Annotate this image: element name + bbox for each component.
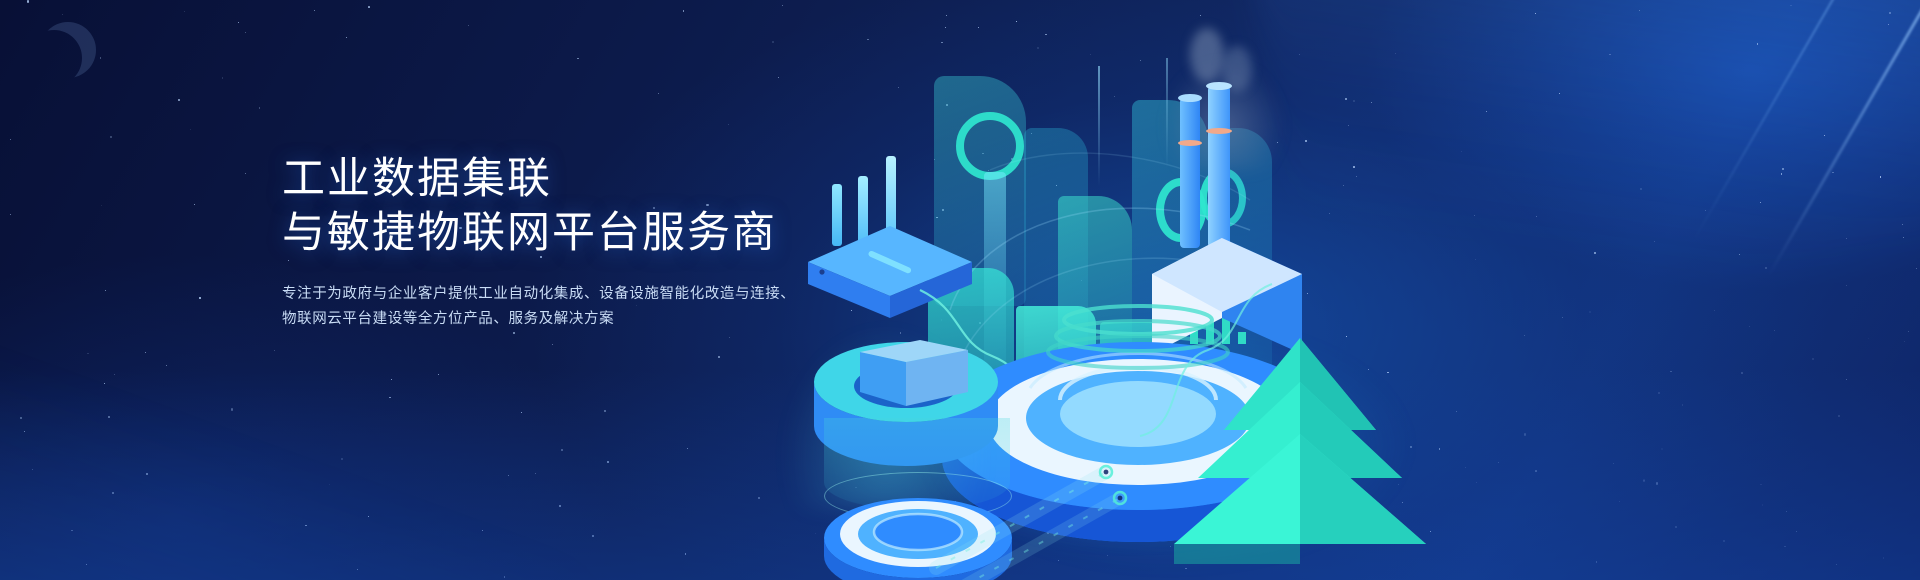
chimney-right-band <box>1206 128 1232 134</box>
hologram-antenna-1 <box>1098 66 1100 186</box>
data-beam <box>910 420 1150 580</box>
subtitle-line-2: 物联网云平台建设等全方位产品、服务及解决方案 <box>282 307 842 332</box>
chimney-right-cap <box>1206 82 1232 90</box>
crescent-moon-icon <box>40 22 96 78</box>
headline-line-1: 工业数据集联 <box>282 152 842 206</box>
headline-line-2: 与敏捷物联网平台服务商 <box>282 206 842 260</box>
chimney-right <box>1208 86 1230 248</box>
smoke-puff-1 <box>1190 28 1224 82</box>
chimney-left <box>1180 98 1200 248</box>
hero-copy: 工业数据集联 与敏捷物联网平台服务商 专注于为政府与企业客户提供工业自动化集成、… <box>282 152 842 332</box>
pyramid-stack <box>1170 338 1430 568</box>
subtitle-line-1: 专注于为政府与企业客户提供工业自动化集成、设备设施智能化改造与连接、 <box>282 282 842 307</box>
bottom-left-light-sweep <box>0 360 580 580</box>
chimney-left-band <box>1178 140 1202 146</box>
chimney-left-cap <box>1178 94 1202 102</box>
isometric-illustration <box>760 0 1920 580</box>
hero-banner: 工业数据集联 与敏捷物联网平台服务商 专注于为政府与企业客户提供工业自动化集成、… <box>0 0 1920 580</box>
